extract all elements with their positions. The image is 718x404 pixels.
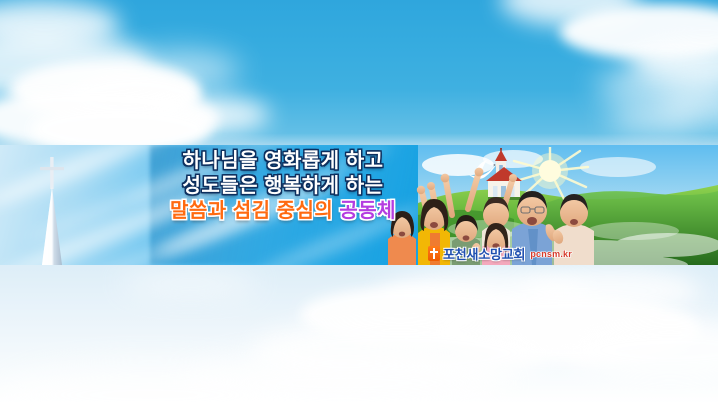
- church-banner[interactable]: 하나님을 영화롭게 하고 성도들은 행복하게 하는 말씀과 섬김 중심의 공동체: [0, 145, 718, 265]
- page-canvas: 하나님을 영화롭게 하고 성도들은 행복하게 하는 말씀과 섬김 중심의 공동체…: [0, 0, 718, 404]
- headline-line-1: 하나님을 영화롭게 하고: [143, 151, 423, 171]
- headline-line-2: 성도들은 행복하게 하는: [143, 176, 423, 196]
- church-name: 포천새소망교회: [443, 244, 525, 263]
- church-steeple-with-cross: [18, 151, 88, 265]
- banner-headline: 하나님을 영화롭게 하고 성도들은 행복하게 하는 말씀과 섬김 중심의 공동체: [143, 151, 423, 221]
- cross-logo-icon: [428, 246, 440, 261]
- headline-line-3-part-2: 공동체: [339, 200, 396, 222]
- church-logo[interactable]: 포천새소망교회 pcnsm.kr: [428, 244, 572, 263]
- church-url[interactable]: pcnsm.kr: [530, 249, 572, 259]
- headline-line-3-part-1: 말씀과 섬김 중심의: [170, 200, 333, 222]
- headline-line-3: 말씀과 섬김 중심의 공동체: [143, 201, 423, 221]
